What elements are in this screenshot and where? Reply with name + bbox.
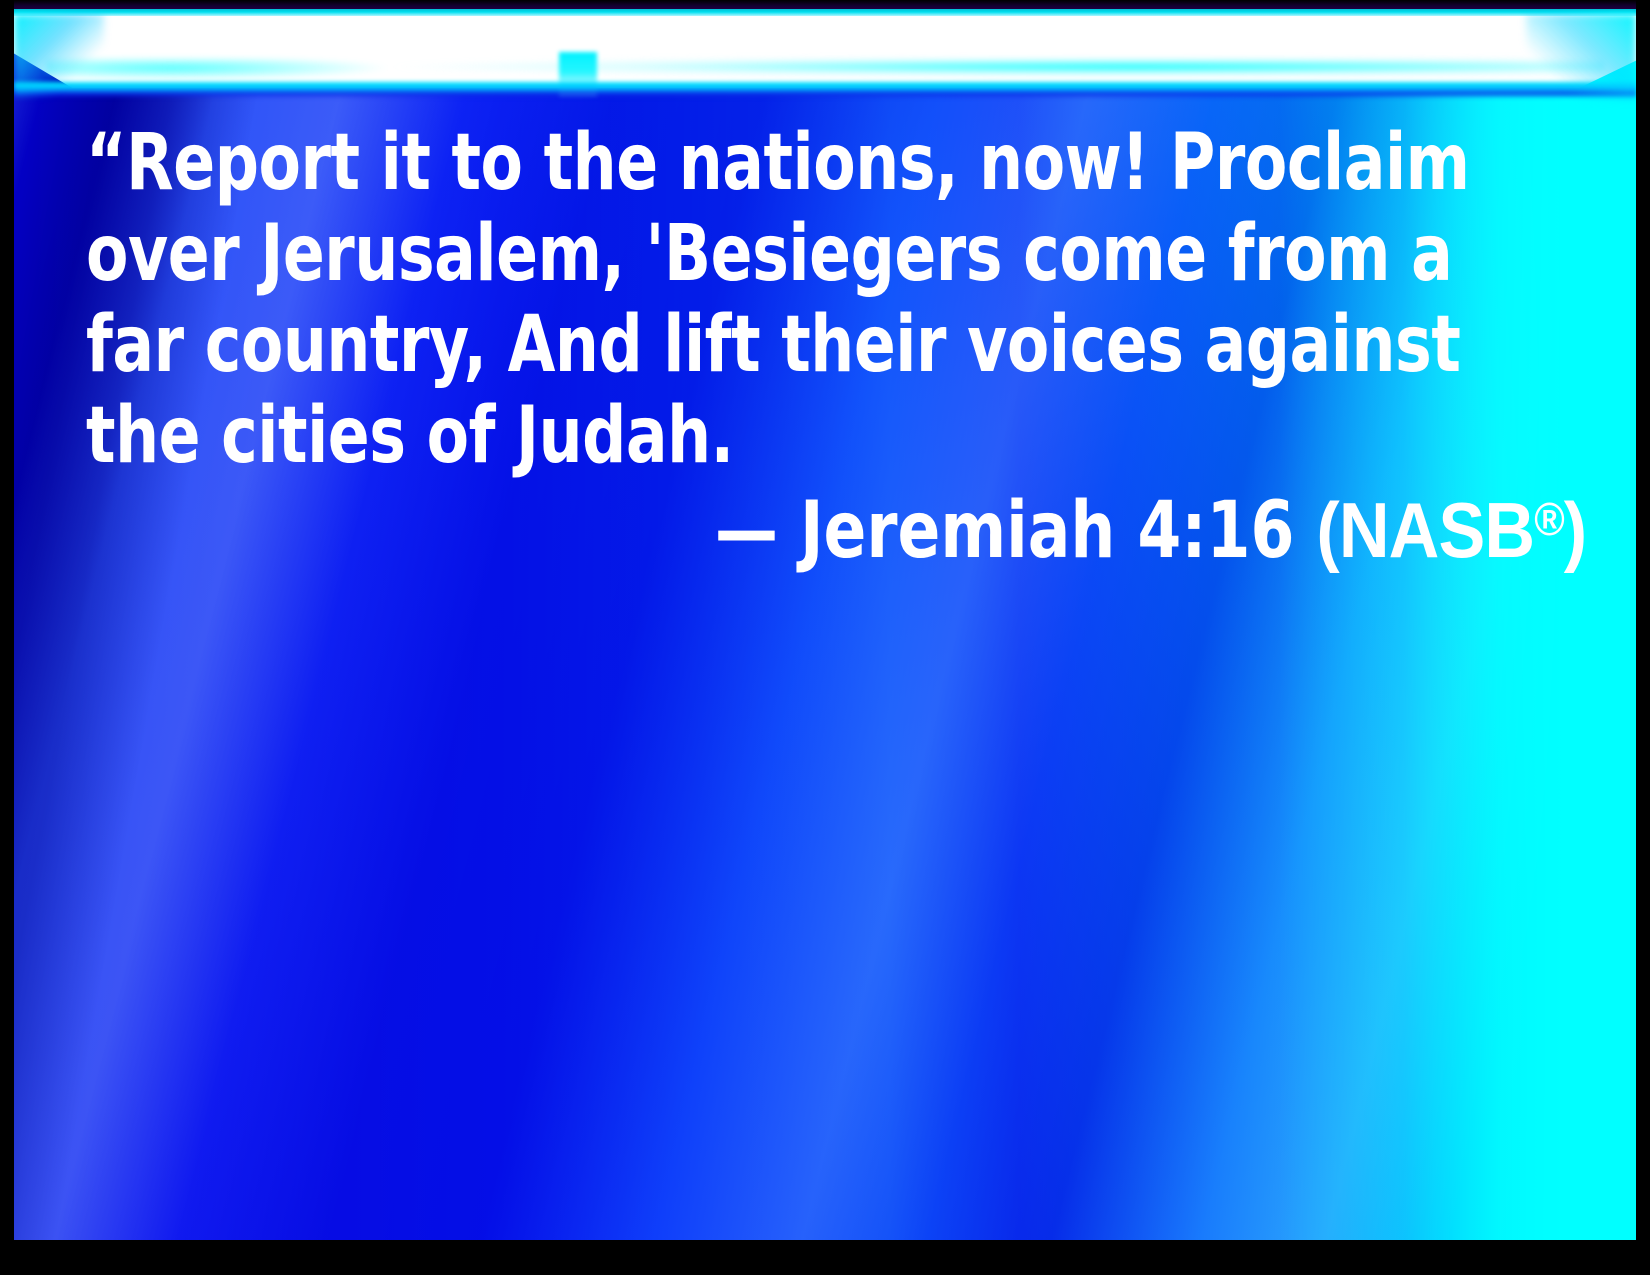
frame-border-right	[1636, 0, 1650, 1275]
registered-trademark-icon: ®	[1534, 493, 1564, 545]
open-paren: (	[1316, 486, 1338, 574]
bible-version: NASB	[1339, 486, 1534, 574]
verse-line-4: the cities of Judah.	[86, 391, 1406, 482]
bible-verse-slide: “Report it to the nations, now! Proclaim…	[0, 0, 1650, 1275]
verse-attribution: — Jeremiah 4:16 (NASB®)	[86, 474, 1586, 577]
slide-background-panel: “Report it to the nations, now! Proclaim…	[14, 8, 1636, 1240]
attribution-reference-group: — Jeremiah 4:16 (NASB®)	[715, 474, 1586, 577]
close-paren: )	[1564, 486, 1586, 574]
verse-line-3: far country, And lift their voices again…	[86, 300, 1406, 391]
bible-version-group: (NASB®)	[1316, 486, 1586, 574]
verse-text-block: “Report it to the nations, now! Proclaim…	[86, 118, 1586, 482]
frame-border-left	[0, 0, 14, 1275]
verse-line-1: “Report it to the nations, now! Proclaim	[86, 118, 1406, 209]
em-dash: —	[715, 486, 778, 576]
frame-border-bottom	[0, 1240, 1650, 1275]
scripture-reference: Jeremiah 4:16	[800, 486, 1294, 576]
verse-line-2: over Jerusalem, 'Besiegers come from a	[86, 209, 1406, 300]
